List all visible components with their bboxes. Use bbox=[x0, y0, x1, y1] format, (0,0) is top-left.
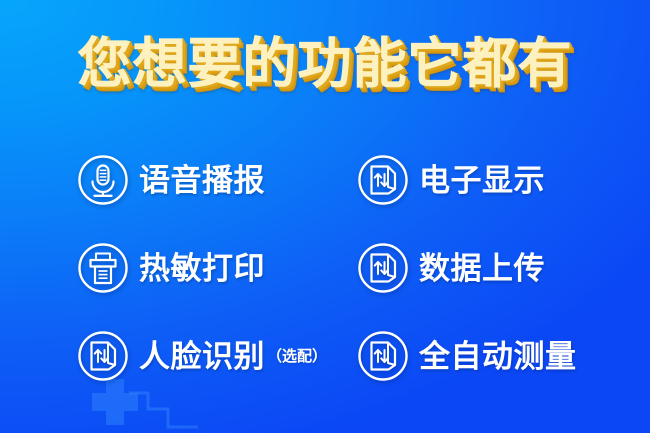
feature-row: 热敏打印 数据上传 bbox=[0, 224, 650, 312]
headline: 您想要的功能它都有 bbox=[0, 36, 650, 93]
feature-item-thermal-printing[interactable]: 热敏打印 bbox=[76, 241, 366, 295]
feature-item-electronic-display[interactable]: 电子显示 bbox=[356, 153, 646, 207]
feature-item-automatic-measurement[interactable]: 全自动测量 bbox=[356, 329, 646, 383]
feature-grid: 语音播报 电子显示 bbox=[0, 136, 650, 400]
feature-row: 语音播报 电子显示 bbox=[0, 136, 650, 224]
document-arrows-icon bbox=[356, 153, 410, 207]
feature-label: 语音播报 bbox=[139, 165, 265, 196]
feature-item-data-upload[interactable]: 数据上传 bbox=[356, 241, 646, 295]
feature-label: 电子显示 bbox=[419, 165, 545, 196]
document-arrows-icon bbox=[76, 329, 130, 383]
feature-label: 全自动测量 bbox=[419, 341, 577, 372]
document-arrows-icon bbox=[356, 241, 410, 295]
feature-row: 人脸识别 （选配） 全自动测量 bbox=[0, 312, 650, 400]
page-title: 您想要的功能它都有 bbox=[78, 36, 573, 93]
feature-label: 数据上传 bbox=[419, 253, 545, 284]
poster-canvas: 您想要的功能它都有 bbox=[0, 0, 650, 433]
feature-note: （选配） bbox=[267, 349, 327, 364]
feature-item-voice-broadcast[interactable]: 语音播报 bbox=[76, 153, 366, 207]
document-arrows-icon bbox=[356, 329, 410, 383]
thermal-printer-icon bbox=[76, 241, 130, 295]
feature-label: 人脸识别 bbox=[139, 341, 265, 372]
feature-label: 热敏打印 bbox=[139, 253, 265, 284]
microphone-icon bbox=[76, 153, 130, 207]
feature-item-face-recognition[interactable]: 人脸识别 （选配） bbox=[76, 329, 366, 383]
